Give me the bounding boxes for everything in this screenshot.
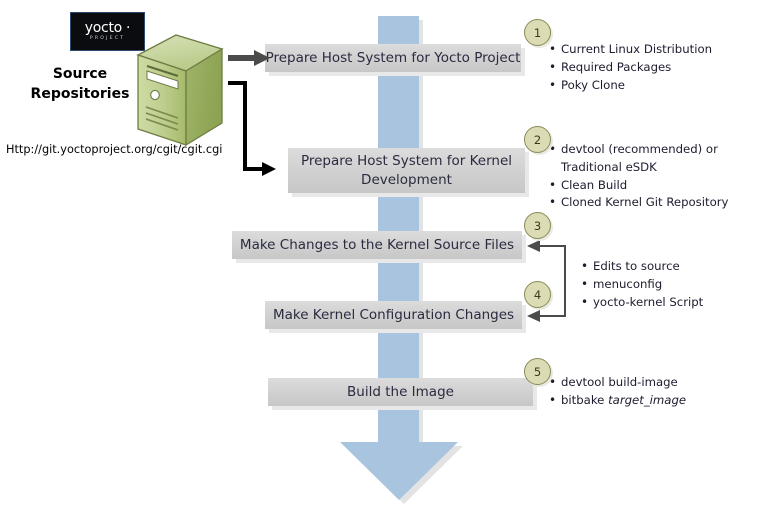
diagram-canvas: yocto · PROJECT Source Repositories Http… <box>0 0 769 517</box>
step-2-bullet-item-line2: Traditional eSDK <box>561 159 728 177</box>
server-icon <box>134 33 226 150</box>
steps-3-4-bullet-list: Edits to source menuconfig yocto-kernel … <box>581 258 703 311</box>
connector-source-to-step2-segment-vertical <box>243 81 247 171</box>
steps-3-4-bullet-item: yocto-kernel Script <box>581 294 703 312</box>
source-repositories-label: Source Repositories <box>20 64 140 105</box>
connector-source-to-step2-arrowhead-icon <box>262 162 276 176</box>
feedback-bracket-top-arrowhead-icon <box>527 240 540 252</box>
process-box-step-2[interactable]: Prepare Host System for Kernel Developme… <box>288 148 525 193</box>
process-box-step-5-label: Build the Image <box>347 383 454 401</box>
process-box-step-5[interactable]: Build the Image <box>268 378 533 406</box>
process-box-step-2-label-line2: Development <box>361 171 452 189</box>
step-badge-2-number: 2 <box>534 133 541 147</box>
step-5-bullet-item: devtool build-image <box>549 374 686 392</box>
step-badge-3: 3 <box>524 212 551 239</box>
connector-source-to-step1-arrowhead-icon <box>254 50 270 66</box>
process-box-step-3[interactable]: Make Changes to the Kernel Source Files <box>232 231 522 259</box>
step-2-bullet-item: devtool (recommended) or Traditional eSD… <box>549 141 728 177</box>
step-2-bullet-item: Clean Build <box>549 177 728 195</box>
step-1-bullet-list: Current Linux Distribution Required Pack… <box>549 41 712 94</box>
feedback-bracket-bottom-arrowhead-icon <box>527 310 540 322</box>
process-box-step-4[interactable]: Make Kernel Configuration Changes <box>265 301 522 329</box>
process-box-step-2-label-line1: Prepare Host System for Kernel <box>301 152 512 170</box>
step-5-bullet-item-italic: target_image <box>608 393 686 407</box>
step-2-bullet-list: devtool (recommended) or Traditional eSD… <box>549 141 728 212</box>
process-box-step-4-label: Make Kernel Configuration Changes <box>273 306 514 324</box>
step-5-bullet-item-prefix: bitbake <box>561 393 608 407</box>
process-box-step-3-label: Make Changes to the Kernel Source Files <box>240 236 514 254</box>
process-box-step-1[interactable]: Prepare Host System for Yocto Project <box>265 44 521 72</box>
step-1-bullet-item: Required Packages <box>549 59 712 77</box>
process-box-step-1-label: Prepare Host System for Yocto Project <box>266 49 521 67</box>
step-2-bullet-item-line1: devtool (recommended) or <box>561 142 718 156</box>
feedback-bracket-bottom-segment <box>539 315 566 317</box>
yocto-logo-sub-text: PROJECT <box>90 37 125 42</box>
step-badge-5: 5 <box>524 358 551 385</box>
workflow-spine-arrowhead-icon <box>340 442 458 500</box>
source-repositories-label-line1: Source <box>20 64 140 84</box>
step-badge-1: 1 <box>524 19 551 46</box>
steps-3-4-bullet-item: menuconfig <box>581 276 703 294</box>
step-badge-5-number: 5 <box>534 365 541 379</box>
step-badge-4: 4 <box>524 281 551 308</box>
step-badge-2: 2 <box>524 126 551 153</box>
source-repositories-label-line2: Repositories <box>20 84 140 104</box>
step-5-bullet-item: bitbake target_image <box>549 392 686 410</box>
step-1-bullet-item: Current Linux Distribution <box>549 41 712 59</box>
connector-source-to-step1-line <box>228 55 256 61</box>
feedback-bracket-vertical <box>564 245 566 317</box>
steps-3-4-bullet-item: Edits to source <box>581 258 703 276</box>
step-5-bullet-list: devtool build-image bitbake target_image <box>549 374 686 410</box>
yocto-logo-main-text: yocto · <box>85 21 130 35</box>
step-badge-3-number: 3 <box>534 219 541 233</box>
feedback-bracket-top-segment <box>539 245 566 247</box>
step-badge-1-number: 1 <box>534 26 541 40</box>
step-badge-4-number: 4 <box>534 288 541 302</box>
step-2-bullet-item: Cloned Kernel Git Repository <box>549 194 728 212</box>
step-1-bullet-item: Poky Clone <box>549 77 712 95</box>
